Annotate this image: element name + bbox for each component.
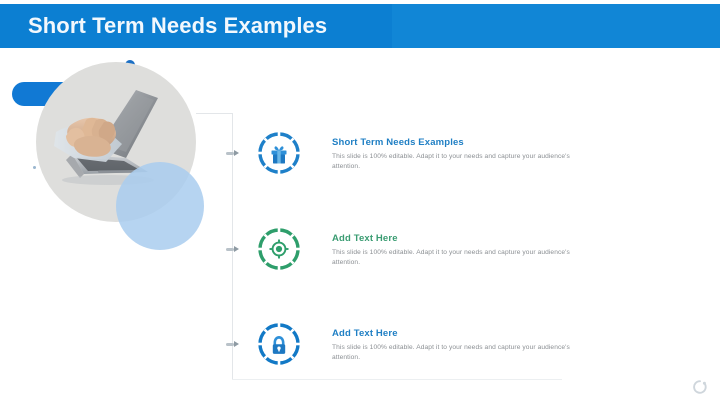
content-row[interactable]: Add Text Here This slide is 100% editabl… xyxy=(255,320,585,390)
content-row-heading: Short Term Needs Examples xyxy=(332,137,585,149)
connector-arrow-2 xyxy=(226,245,240,253)
target-crosshair-icon[interactable] xyxy=(255,225,303,273)
slide-canvas: Short Term Needs Examples xyxy=(0,0,720,404)
page-title: Short Term Needs Examples xyxy=(28,15,327,37)
light-blue-circle xyxy=(116,162,204,250)
content-row-text: Add Text Here This slide is 100% editabl… xyxy=(332,233,585,267)
title-banner: Short Term Needs Examples xyxy=(0,4,720,48)
content-row-heading: Add Text Here xyxy=(332,328,585,340)
content-row[interactable]: Add Text Here This slide is 100% editabl… xyxy=(255,225,585,295)
content-row-body: This slide is 100% editable. Adapt it to… xyxy=(332,248,585,267)
circular-logo-watermark xyxy=(692,379,708,395)
connector-arrow-1 xyxy=(226,149,240,157)
connector-line-top xyxy=(196,113,233,114)
content-row[interactable]: Short Term Needs Examples This slide is … xyxy=(255,129,585,199)
gift-box-icon[interactable] xyxy=(255,129,303,177)
content-row-text: Add Text Here This slide is 100% editabl… xyxy=(332,328,585,362)
content-row-text: Short Term Needs Examples This slide is … xyxy=(332,137,585,171)
content-row-body: This slide is 100% editable. Adapt it to… xyxy=(332,343,585,362)
illustration-group xyxy=(0,52,232,292)
content-row-heading: Add Text Here xyxy=(332,233,585,245)
content-row-body: This slide is 100% editable. Adapt it to… xyxy=(332,152,585,171)
connector-arrow-3 xyxy=(226,340,240,348)
padlock-icon[interactable] xyxy=(255,320,303,368)
